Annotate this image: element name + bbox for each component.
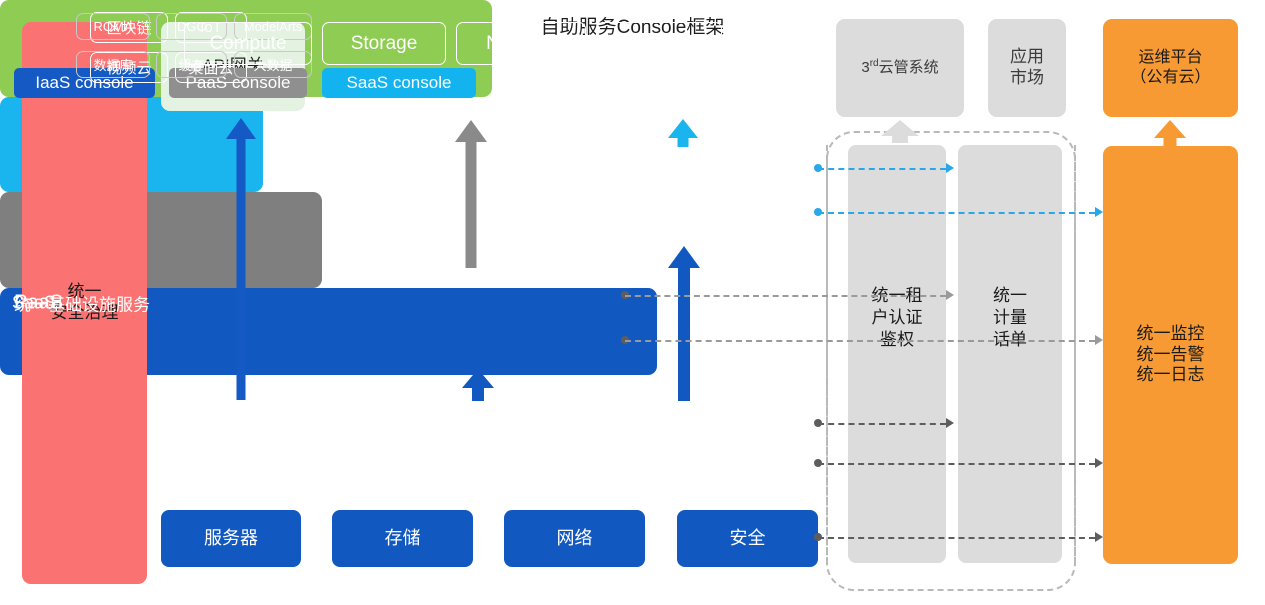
connector-arrowhead-paas-ops [1095,335,1103,345]
connector-paas-to-auth [625,295,946,297]
connector-arrowhead-saas-auth [946,163,954,173]
saas-console-chip[interactable]: SaaS console [322,68,476,98]
ops-platform-label: 运维平台（公有云） [1130,48,1210,87]
connector-iaas-to-auth [818,423,946,425]
hardware-box-server: 服务器 [161,510,301,567]
shared-service-auth-column: 统一租户认证鉴权 [848,145,946,563]
hardware-box-security: 安全 [677,510,818,567]
unified-monitoring-panel: 统一监控统一告警统一日志 [1103,146,1238,564]
iaas-chip-cce[interactable]: CCE [596,22,722,65]
architecture-diagram: 统一安全治理 API网关 自助服务Console框架 IaaS console … [0,0,1265,605]
connector-arrowhead-hardware-ops [1095,532,1103,542]
app-market-box: 应用市场 [988,19,1066,117]
shared-service-metering-column: 统一计量话单 [958,145,1062,563]
connector-saas-to-auth [818,168,946,170]
iaas-chip-network[interactable]: Network [456,22,586,65]
dashed-guide-left [826,145,828,563]
arrow-iaas-to-paas [462,366,494,401]
arrow-shared-to-third-party [881,117,919,143]
connector-arrowhead-paas-auth [946,290,954,300]
connector-arrowhead-iaas-ops [1095,458,1103,468]
arrow-to-ops-platform [1154,117,1186,147]
unified-monitoring-label: 统一监控统一告警统一日志 [1137,324,1205,386]
connector-arrowhead-iaas-auth [946,418,954,428]
arrow-iaas-to-saas [668,243,700,401]
connector-hardware-to-ops [818,537,1095,539]
hardware-box-storage: 存储 [332,510,473,567]
iaas-chip-storage[interactable]: Storage [322,22,446,65]
iaas-chip-compute[interactable]: Compute [184,22,312,65]
connector-iaas-to-ops [818,463,1095,465]
hardware-box-network: 网络 [504,510,645,567]
paas-chip-roma[interactable]: ROMA [76,13,150,40]
app-market-label: 应用市场 [1010,47,1044,88]
connector-paas-to-ops [625,340,1095,342]
third-party-cloud-mgmt-box: 3rd云管系统 [836,19,964,117]
iaas-label: 统一基础设施服务 [14,290,150,315]
arrow-iaas-to-api-gateway [226,115,256,400]
arrow-saas-to-console [668,116,698,147]
connector-arrowhead-saas-ops [1095,207,1103,217]
dashed-guide-mid [1074,145,1076,563]
arrow-paas-to-console [455,117,487,268]
third-party-cloud-mgmt-label: 3rd云管系统 [861,58,938,77]
paas-chip-database[interactable]: 数据库 [76,51,150,78]
ops-platform-box: 运维平台（公有云） [1103,19,1238,117]
connector-saas-to-ops [818,212,1095,214]
